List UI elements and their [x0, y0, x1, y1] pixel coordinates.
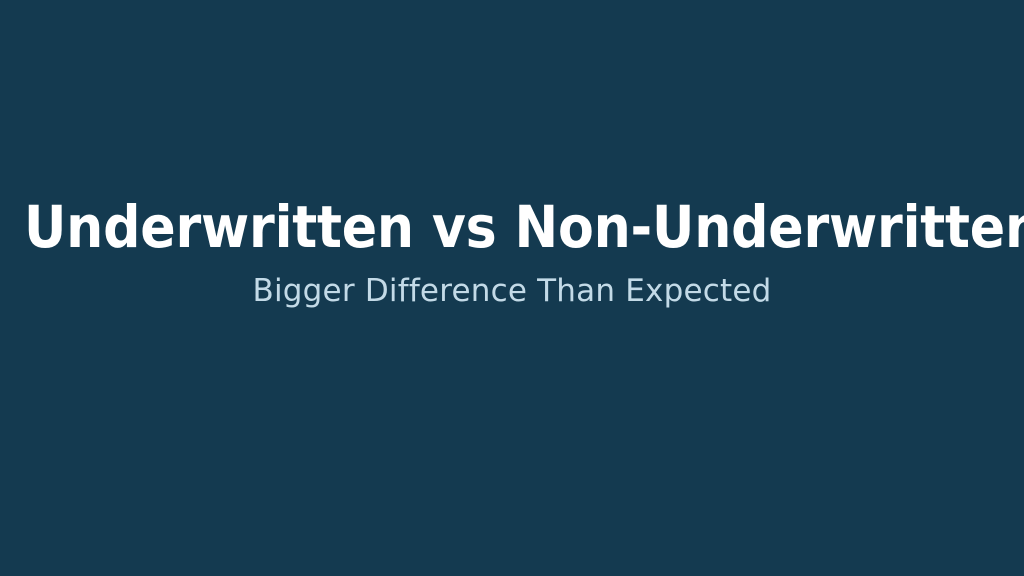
title-block: Underwritten vs Non-Underwritten Bigger … — [0, 196, 1024, 310]
slide-subtitle: Bigger Difference Than Expected — [24, 272, 1000, 310]
title-slide: Underwritten vs Non-Underwritten Bigger … — [0, 0, 1024, 576]
slide-title: Underwritten vs Non-Underwritten — [24, 196, 1000, 258]
